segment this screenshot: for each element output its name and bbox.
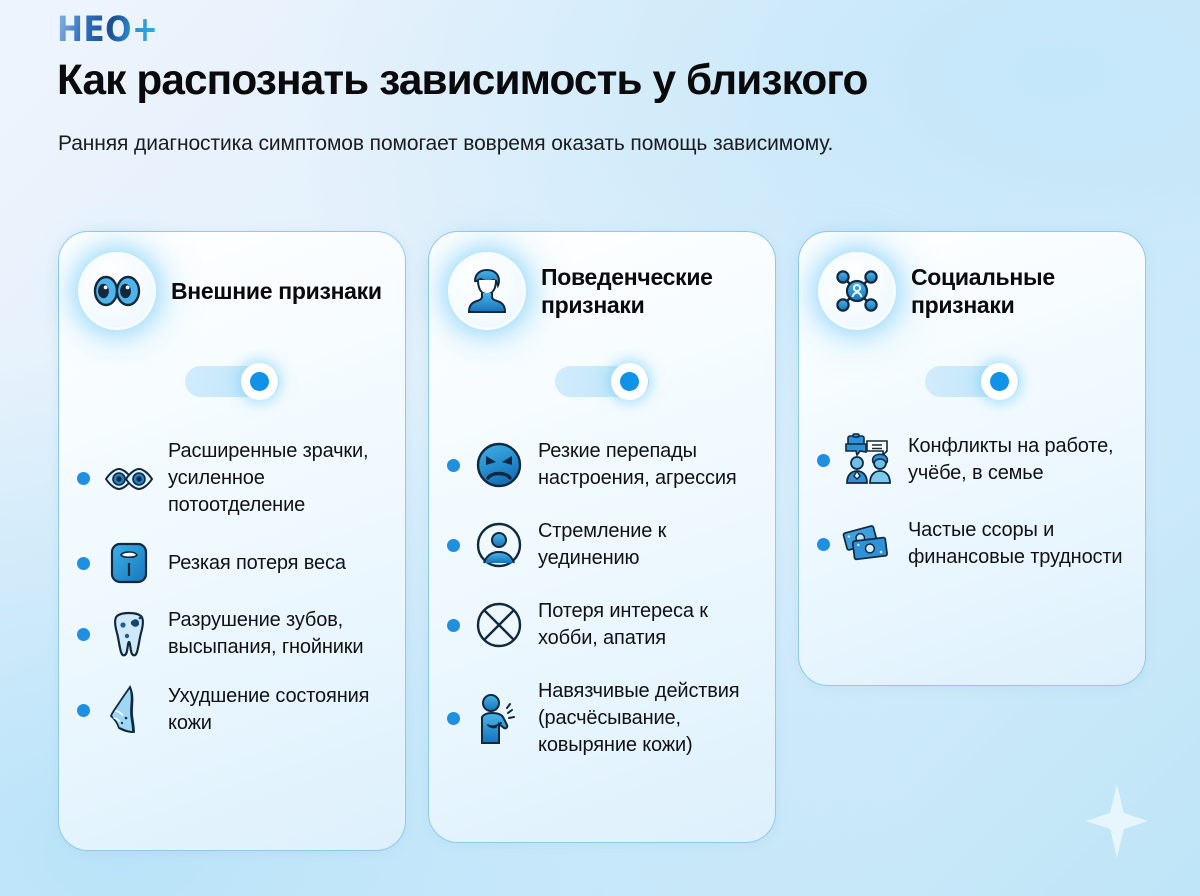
dilated-pupils-icon bbox=[102, 466, 156, 492]
person-circle-icon bbox=[472, 521, 526, 569]
toggle-row bbox=[799, 327, 1145, 397]
card-behavioral-signs: Поведенческие признаки bbox=[428, 231, 776, 843]
brand-logo: НЕО+ bbox=[57, 13, 158, 48]
list-item: Резкие перепады настроения, агрессия bbox=[447, 438, 757, 492]
list-item: Стремление к уединению bbox=[447, 518, 757, 572]
list-item: Ухудшение состояния кожи bbox=[77, 683, 387, 737]
toggle-knob bbox=[241, 363, 278, 400]
bullet-icon bbox=[817, 538, 830, 551]
card-toggle-switch[interactable] bbox=[555, 366, 649, 397]
list-item: Расширенные зрачки, усиленное потоотделе… bbox=[77, 438, 387, 519]
list-item: Разрушение зубов, высыпания, гнойники bbox=[77, 607, 387, 661]
people-conflict-icon bbox=[842, 433, 896, 487]
toggle-knob bbox=[611, 363, 648, 400]
eyes-icon bbox=[81, 255, 153, 327]
list-item-label: Расширенные зрачки, усиленное потоотделе… bbox=[168, 438, 387, 519]
person-avatar-icon bbox=[451, 255, 523, 327]
card-toggle-switch[interactable] bbox=[925, 366, 1019, 397]
bullet-icon bbox=[447, 619, 460, 632]
list-item-label: Частые ссоры и финансовые трудности bbox=[908, 517, 1127, 571]
damaged-tooth-icon bbox=[102, 610, 156, 658]
bullet-icon bbox=[447, 539, 460, 552]
signs-list: Резкие перепады настроения, агрессия bbox=[429, 397, 775, 759]
social-network-icon bbox=[821, 255, 893, 327]
toggle-knob bbox=[981, 363, 1018, 400]
list-item-label: Навязчивые действия (расчёсывание, ковыр… bbox=[538, 678, 757, 759]
toggle-row bbox=[59, 327, 405, 397]
list-item-label: Разрушение зубов, высыпания, гнойники bbox=[168, 607, 387, 661]
card-toggle-switch[interactable] bbox=[185, 366, 279, 397]
card-header: Социальные признаки bbox=[799, 232, 1145, 327]
card-title: Внешние признаки bbox=[171, 277, 382, 305]
bullet-icon bbox=[447, 459, 460, 472]
list-item-label: Стремление к уединению bbox=[538, 518, 757, 572]
list-item: Навязчивые действия (расчёсывание, ковыр… bbox=[447, 678, 757, 759]
list-item-label: Конфликты на работе, учёбе, в семье bbox=[908, 433, 1127, 487]
cards-container: Внешние признаки bbox=[58, 231, 1148, 851]
bullet-icon bbox=[817, 454, 830, 467]
face-skin-icon bbox=[102, 685, 156, 735]
card-social-signs: Социальные признаки bbox=[798, 231, 1146, 686]
scratching-person-icon bbox=[472, 693, 526, 745]
card-title: Социальные признаки bbox=[911, 263, 1125, 319]
list-item: Конфликты на работе, учёбе, в семье bbox=[817, 433, 1127, 487]
bullet-icon bbox=[77, 472, 90, 485]
page-subtitle: Ранняя диагностика симптомов помогает во… bbox=[58, 127, 958, 161]
card-title: Поведенческие признаки bbox=[541, 263, 755, 319]
angry-face-icon bbox=[472, 441, 526, 489]
list-item: Частые ссоры и финансовые трудности bbox=[817, 517, 1127, 571]
crossed-circle-icon bbox=[472, 601, 526, 649]
card-external-signs: Внешние признаки bbox=[58, 231, 406, 851]
money-banknotes-icon bbox=[842, 521, 896, 567]
list-item-label: Ухудшение состояния кожи bbox=[168, 683, 387, 737]
list-item-label: Резкие перепады настроения, агрессия bbox=[538, 438, 757, 492]
list-item: Потеря интереса к хобби, апатия bbox=[447, 598, 757, 652]
list-item-label: Резкая потеря веса bbox=[168, 550, 346, 577]
list-item-label: Потеря интереса к хобби, апатия bbox=[538, 598, 757, 652]
page-title: Как распознать зависимость у близкого bbox=[57, 56, 868, 105]
bullet-icon bbox=[77, 704, 90, 717]
weight-scale-icon bbox=[102, 541, 156, 585]
bullet-icon bbox=[77, 628, 90, 641]
bullet-icon bbox=[447, 712, 460, 725]
list-item: Резкая потеря веса bbox=[77, 541, 387, 585]
signs-list: Конфликты на работе, учёбе, в семье bbox=[799, 397, 1145, 571]
bullet-icon bbox=[77, 557, 90, 570]
card-header: Поведенческие признаки bbox=[429, 232, 775, 327]
signs-list: Расширенные зрачки, усиленное потоотделе… bbox=[59, 397, 405, 737]
card-header: Внешние признаки bbox=[59, 232, 405, 327]
toggle-row bbox=[429, 327, 775, 397]
